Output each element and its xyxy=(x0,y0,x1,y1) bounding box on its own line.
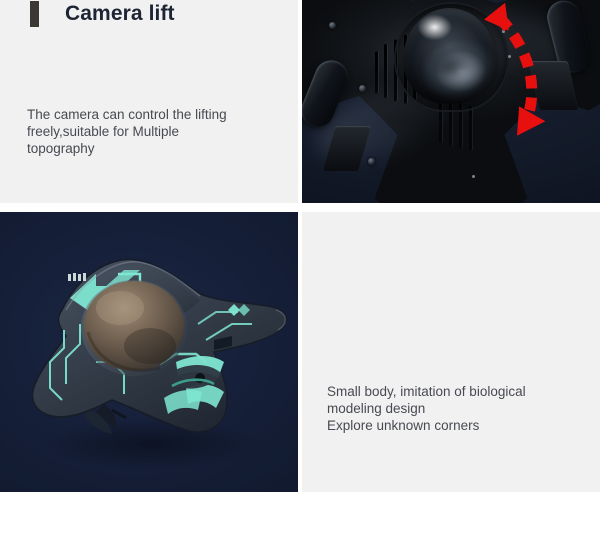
camera-lift-heading: Camera lift xyxy=(30,1,175,27)
camera-lift-heading-text: Camera lift xyxy=(65,2,175,26)
panel-science-fiction: Science fiction design xyxy=(302,212,600,492)
heading-marker-icon xyxy=(30,1,39,27)
feature-grid: Camera lift The camera can control the l… xyxy=(0,0,600,492)
science-fiction-body-text: Small body, imitation of biological mode… xyxy=(327,383,587,434)
drone-closeup-photo xyxy=(302,0,600,203)
panel-camera-lift-photo xyxy=(302,0,600,203)
panel-camera-lift: Camera lift The camera can control the l… xyxy=(0,0,298,203)
drone-product-render xyxy=(0,212,298,492)
panel-drone-render xyxy=(0,212,298,492)
camera-lift-body-text: The camera can control the lifting freel… xyxy=(27,106,277,157)
chassis-screw xyxy=(368,158,375,165)
drone-illustration xyxy=(0,212,298,492)
chassis-screw xyxy=(359,85,366,92)
chassis-indicator-dot xyxy=(508,55,511,58)
camera-dome-ring xyxy=(394,2,508,112)
chassis-indicator-dot xyxy=(472,175,475,178)
